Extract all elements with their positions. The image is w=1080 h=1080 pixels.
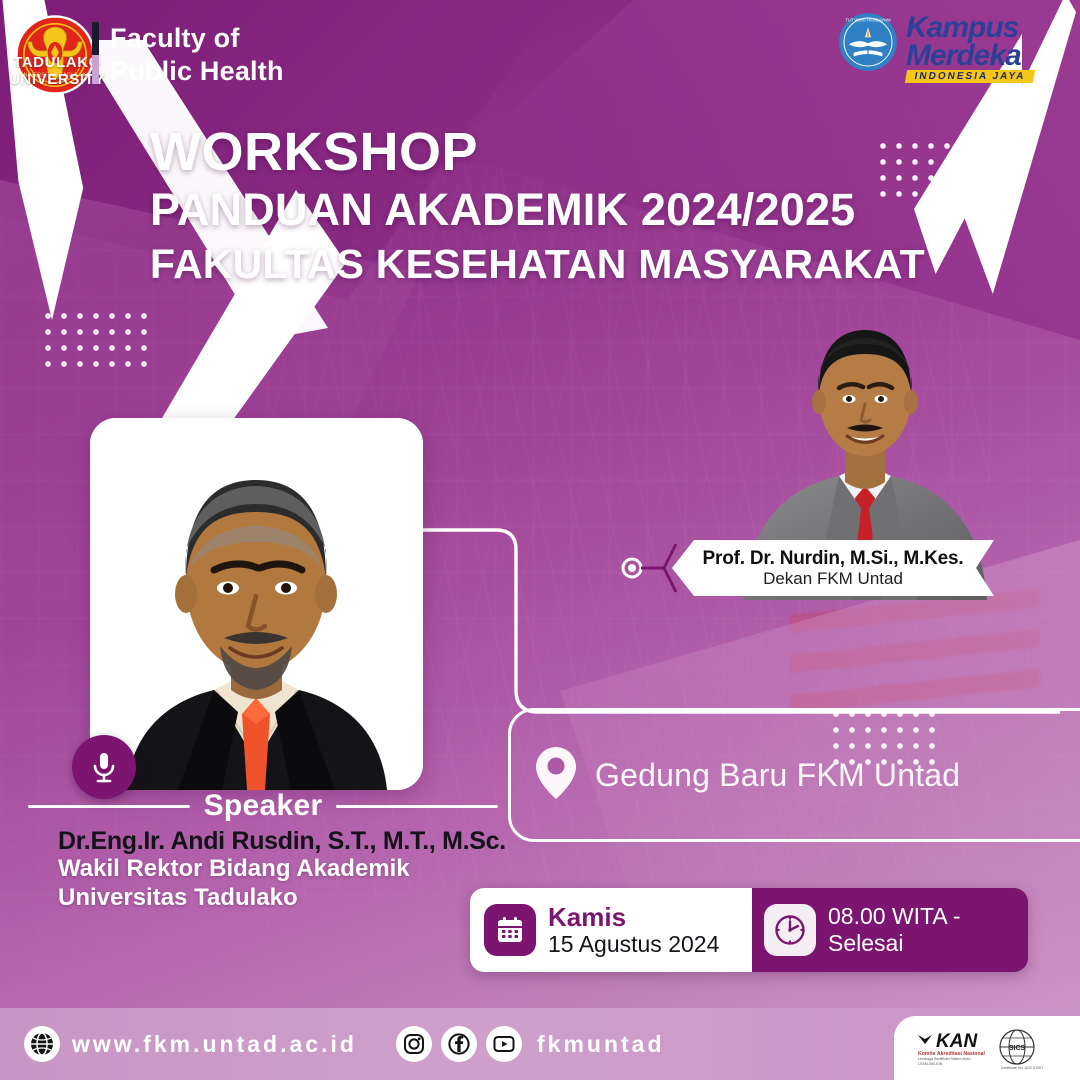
kampus-merdeka-tagline: INDONESIA JAYA <box>905 70 1035 83</box>
dean-role: Dekan FKM Untad <box>763 569 903 588</box>
speaker-photo-frame <box>90 418 423 790</box>
microphone-icon <box>72 735 136 799</box>
speaker-rule-left <box>28 805 190 808</box>
title-line-panduan: PANDUAN AKADEMIK 2024/2025 <box>150 182 925 238</box>
globe-icon <box>24 1026 60 1062</box>
event-time-line1: 08.00 WITA - <box>828 903 961 930</box>
website-group[interactable]: www.fkm.untad.ac.id <box>24 1026 357 1062</box>
dot-grid-left <box>40 308 152 372</box>
svg-text:Lembaga Sertifikasi Sistem Mut: Lembaga Sertifikasi Sistem Mutu <box>918 1057 971 1061</box>
tut-wuri-handayani-logo-icon: TUT WURI HANDAYANI <box>838 12 898 72</box>
faculty-title: Faculty of Public Health <box>110 22 284 88</box>
poster-canvas: UNIVERSITAS TADULAKO TADULAKO UNIVERSITY… <box>0 0 1080 1080</box>
kampus-merdeka-line2: Merdeka <box>906 42 1058 70</box>
speaker-photo <box>90 418 423 790</box>
faculty-title-line2: Public Health <box>110 55 284 88</box>
clock-icon <box>764 904 816 956</box>
kan-accreditation-badge: KAN Komite Akreditasi Nasional Lembaga S… <box>894 1016 1080 1080</box>
kampus-merdeka-line1: Kampus <box>906 14 1058 42</box>
time-text-group: 08.00 WITA - Selesai <box>828 903 961 957</box>
faculty-divider <box>92 22 99 84</box>
svg-text:KAN: KAN <box>936 1031 978 1052</box>
svg-text:Certificate No. QSC 01007: Certificate No. QSC 01007 <box>1001 1066 1044 1070</box>
website-url: www.fkm.untad.ac.id <box>72 1031 357 1058</box>
speaker-rule-right <box>336 805 498 808</box>
dean-name: Prof. Dr. Nurdin, M.Si., M.Kes. <box>703 548 964 569</box>
dean-name-badge: Prof. Dr. Nurdin, M.Si., M.Kes. Dekan FK… <box>672 540 994 596</box>
svg-text:TUT WURI HANDAYANI: TUT WURI HANDAYANI <box>845 18 890 23</box>
event-time-line2: Selesai <box>828 930 961 957</box>
social-group[interactable]: fkmuntad <box>396 1026 665 1062</box>
svg-text:LSSM-000-IDN: LSSM-000-IDN <box>918 1062 943 1066</box>
speaker-organisation: Wakil Rektor Bidang Akademik Universitas… <box>58 854 410 912</box>
poster-header: UNIVERSITAS TADULAKO TADULAKO UNIVERSITY… <box>0 0 1080 110</box>
poster-footer: www.fkm.untad.ac.id <box>0 1008 1080 1080</box>
datetime-bar: Kamis 15 Agustus 2024 08.00 WITA - Seles… <box>470 888 1028 972</box>
location-pin-icon <box>533 744 579 807</box>
date-section: Kamis 15 Agustus 2024 <box>470 888 752 972</box>
time-section: 08.00 WITA - Selesai <box>752 888 1028 972</box>
speaker-org-line2: Universitas Tadulako <box>58 883 410 912</box>
faculty-title-line1: Faculty of <box>110 22 284 55</box>
poster-title: WORKSHOP PANDUAN AKADEMIK 2024/2025 FAKU… <box>150 122 925 290</box>
title-line-fakultas: FAKULTAS KESEHATAN MASYARAKAT <box>150 238 925 290</box>
social-handle: fkmuntad <box>537 1031 665 1058</box>
facebook-icon[interactable] <box>441 1026 477 1062</box>
event-date: 15 Agustus 2024 <box>548 931 719 958</box>
venue-label: Gedung Baru FKM Untad <box>595 757 960 794</box>
event-day: Kamis <box>548 903 719 931</box>
speaker-heading: Speaker <box>204 789 323 823</box>
instagram-icon[interactable] <box>396 1026 432 1062</box>
svg-text:SICS: SICS <box>1009 1045 1026 1052</box>
title-line-workshop: WORKSHOP <box>150 122 925 182</box>
youtube-icon[interactable] <box>486 1026 522 1062</box>
date-text-group: Kamis 15 Agustus 2024 <box>548 903 719 958</box>
speaker-name: Dr.Eng.Ir. Andi Rusdin, S.T., M.T., M.Sc… <box>58 826 506 856</box>
calendar-icon <box>484 904 536 956</box>
speaker-org-line1: Wakil Rektor Bidang Akademik <box>58 854 410 883</box>
venue-box: Gedung Baru FKM Untad <box>508 708 1080 842</box>
kampus-merdeka-logo: Kampus Merdeka INDONESIA JAYA <box>906 14 1058 76</box>
